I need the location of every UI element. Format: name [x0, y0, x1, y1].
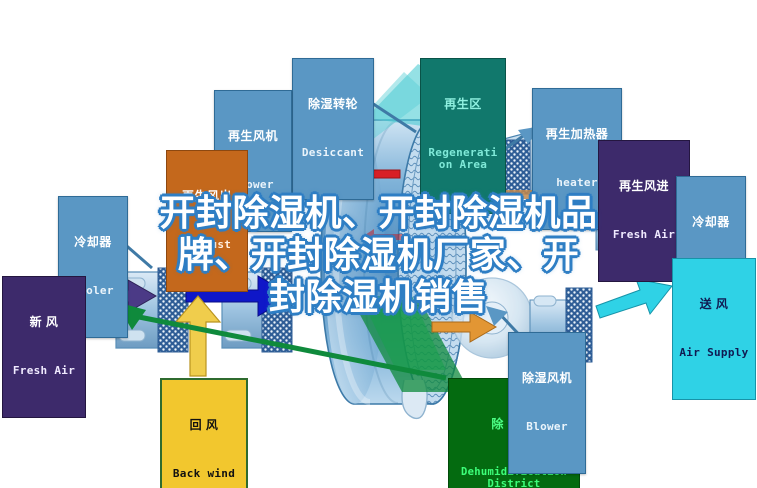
label-fresh-air-cn: 新 风: [3, 316, 85, 329]
label-fresh-air: 新 风 Fresh Air: [2, 276, 86, 418]
label-dehumidification-blower: 除湿风机 Blower: [508, 332, 586, 474]
label-regen-area-cn: 再生区: [421, 98, 505, 111]
label-back-wind-cn: 回 风: [162, 419, 246, 432]
label-dehum-blower-cn: 除湿风机: [509, 372, 585, 385]
label-air-supply-cn: 送 风: [673, 298, 755, 311]
label-air-supply-en: Air Supply: [673, 347, 755, 359]
label-desiccant: 除湿转轮 Desiccant: [292, 58, 374, 200]
label-desiccant-cn: 除湿转轮: [293, 98, 373, 111]
label-exhaust-cn: 再生风出: [167, 190, 247, 203]
diagram-canvas: 除湿转轮 Desiccant 再生风机 Blower 再生区 Regenerat…: [0, 0, 757, 488]
label-cooler-left-cn: 冷却器: [59, 236, 127, 249]
label-exhaust: 再生风出 Exhaust: [166, 150, 248, 292]
label-fresh-air-en: Fresh Air: [3, 365, 85, 377]
leader-dehum-district: [116, 300, 456, 386]
label-air-supply: 送 风 Air Supply: [672, 258, 756, 400]
label-desiccant-en: Desiccant: [293, 147, 373, 159]
label-regen-area-en: Regenerati on Area: [421, 147, 505, 172]
label-exhaust-en: Exhaust: [167, 239, 247, 251]
label-back-wind-en: Back wind: [162, 468, 246, 480]
label-cooler-right-cn: 冷却器: [677, 216, 745, 229]
label-dehum-blower-en: Blower: [509, 421, 585, 433]
label-regeneration-area: 再生区 Regenerati on Area: [420, 58, 506, 214]
label-regen-blower-cn: 再生风机: [215, 130, 291, 143]
label-back-wind: 回 风 Back wind: [160, 378, 248, 488]
